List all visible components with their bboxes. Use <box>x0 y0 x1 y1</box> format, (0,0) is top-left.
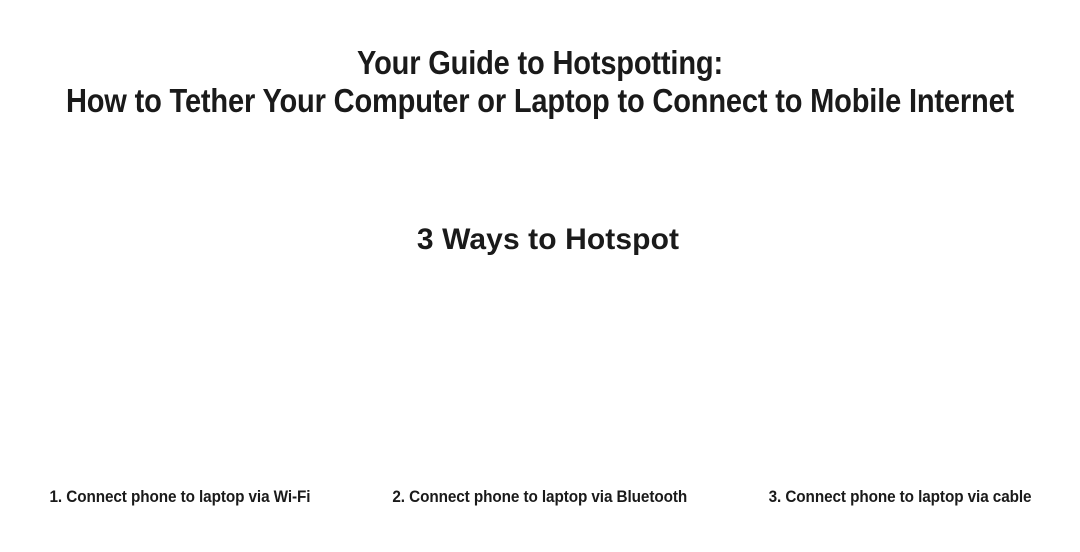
infographic-page: Your Guide to Hotspotting: How to Tether… <box>0 0 1080 552</box>
step-caption-wifi: 1. Connect phone to laptop via Wi-Fi <box>50 486 311 508</box>
illustration-row <box>0 282 1080 470</box>
step-caption-cable: 3. Connect phone to laptop via cable <box>769 486 1032 508</box>
step-caption-bluetooth: 2. Connect phone to laptop via Bluetooth <box>393 486 688 508</box>
step-item-bluetooth: 2. Connect phone to laptop via Bluetooth <box>360 486 720 508</box>
section-heading: 3 Ways to Hotspot <box>0 222 1080 258</box>
page-title-line-1: Your Guide to Hotspotting: <box>65 44 1015 82</box>
caption-row: 1. Connect phone to laptop via Wi-Fi 2. … <box>0 486 1080 508</box>
step-item-wifi: 1. Connect phone to laptop via Wi-Fi <box>0 486 360 508</box>
page-title-line-2: How to Tether Your Computer or Laptop to… <box>65 82 1015 120</box>
page-title: Your Guide to Hotspotting: How to Tether… <box>0 44 1080 120</box>
illustration-slot-cable <box>736 282 1080 470</box>
illustration-slot-wifi <box>0 282 344 470</box>
illustration-slot-bluetooth <box>368 282 712 470</box>
section-heading-label: 3 Ways to Hotspot <box>417 223 679 256</box>
step-item-cable: 3. Connect phone to laptop via cable <box>720 486 1080 508</box>
